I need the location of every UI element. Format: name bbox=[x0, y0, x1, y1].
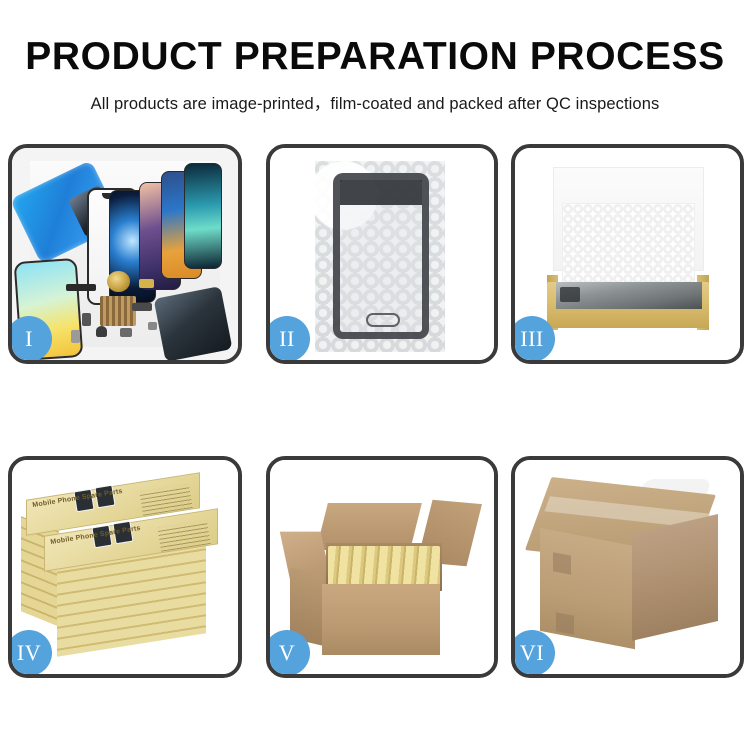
carton-label-tab-upper bbox=[553, 552, 571, 575]
screw-set-part bbox=[148, 322, 157, 330]
page-header: PRODUCT PREPARATION PROCESS All products… bbox=[0, 0, 750, 114]
step-badge-1: I bbox=[8, 316, 52, 362]
gold-contact-part bbox=[139, 279, 155, 287]
step-badge-5: V bbox=[266, 630, 310, 676]
circuit-board-image bbox=[100, 296, 136, 326]
sealed-carton-right-face-image bbox=[632, 514, 718, 641]
process-step-panel-5[interactable]: V bbox=[266, 456, 498, 678]
product-preparation-page: PRODUCT PREPARATION PROCESS All products… bbox=[0, 0, 750, 750]
page-subtitle: All products are image-printed，film-coat… bbox=[0, 79, 750, 114]
screen-glass-image bbox=[333, 173, 429, 338]
sim-tray-part bbox=[71, 330, 80, 343]
packed-gold-boxes-image bbox=[328, 546, 440, 589]
battery-connector-part bbox=[120, 328, 131, 336]
sealed-carton-front-face-image bbox=[540, 528, 635, 649]
process-step-panel-4[interactable]: Mobile Phone Spare Parts Mobile Phone Sp… bbox=[8, 456, 242, 678]
process-step-panel-1[interactable]: I bbox=[8, 144, 242, 364]
step-badge-3: III bbox=[511, 316, 555, 362]
ribbon-cable-part bbox=[132, 303, 152, 311]
carton-front-face-image bbox=[322, 584, 441, 655]
step-badge-6: VI bbox=[511, 630, 555, 676]
step-badge-4: IV bbox=[8, 630, 52, 676]
camera-module-part bbox=[96, 326, 107, 337]
carton-label-tab-lower bbox=[556, 612, 574, 635]
process-step-grid: I II III bbox=[8, 144, 744, 680]
foam-padding-image bbox=[562, 203, 695, 290]
flex-cable-part bbox=[66, 284, 95, 291]
packed-screen-image bbox=[556, 282, 702, 310]
process-step-panel-2[interactable]: II bbox=[266, 144, 498, 364]
connector-part bbox=[82, 313, 91, 326]
speaker-module-image bbox=[107, 271, 130, 292]
phone-chassis-image bbox=[153, 286, 232, 360]
process-step-panel-6[interactable]: VI bbox=[511, 456, 744, 678]
process-step-panel-3[interactable]: III bbox=[511, 144, 744, 364]
phone-display-teal-image bbox=[184, 163, 222, 269]
step-badge-2: II bbox=[266, 316, 310, 362]
page-title: PRODUCT PREPARATION PROCESS bbox=[0, 0, 750, 79]
